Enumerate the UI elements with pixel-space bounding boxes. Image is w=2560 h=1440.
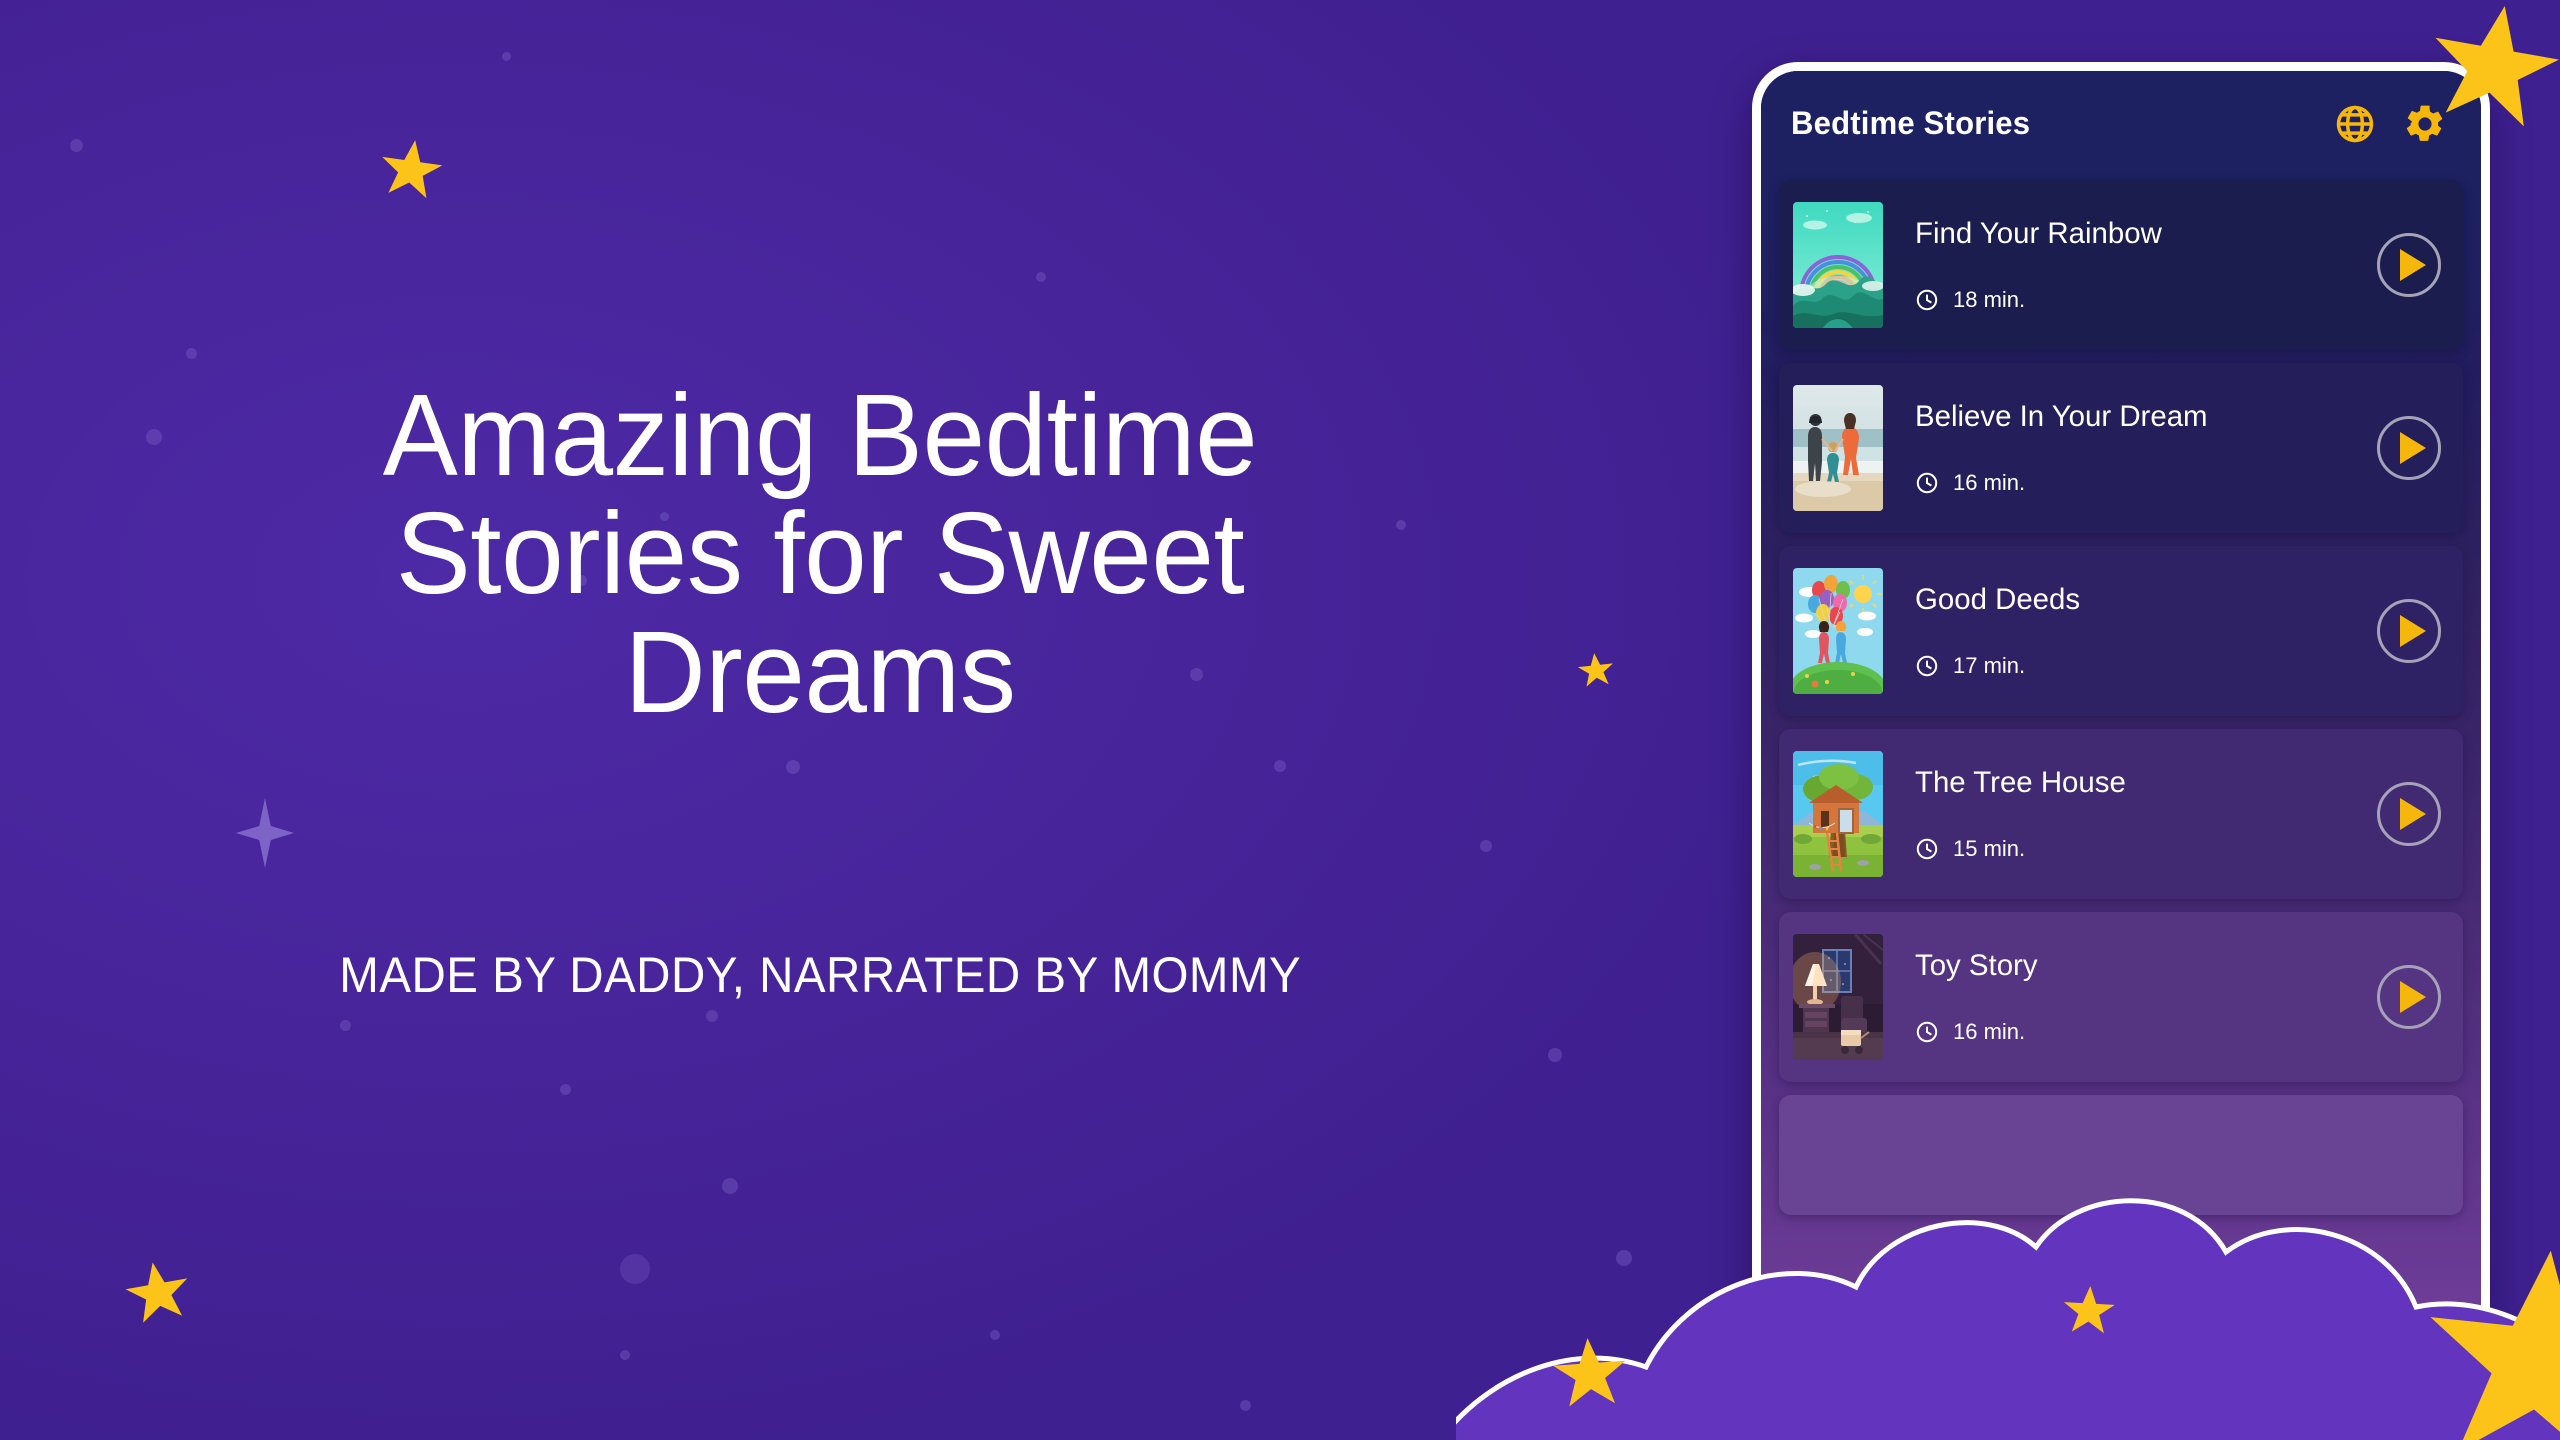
clock-icon (1915, 837, 1939, 861)
story-thumbnail-rainbow (1793, 202, 1883, 328)
story-duration: 15 min. (1915, 836, 2377, 862)
story-thumbnail-balloons (1793, 568, 1883, 694)
story-duration: 16 min. (1915, 470, 2377, 496)
play-icon[interactable] (2377, 599, 2441, 663)
app-bar: Bedtime Stories (1761, 71, 2481, 176)
gear-icon[interactable] (2403, 102, 2447, 146)
story-list-item[interactable]: Find Your Rainbow 18 min. (1779, 180, 2463, 350)
story-title: Believe In Your Dream (1915, 400, 2368, 434)
story-title: Good Deeds (1915, 583, 2368, 617)
story-duration: 17 min. (1915, 653, 2377, 679)
story-duration-text: 16 min. (1953, 470, 2025, 496)
story-list-item[interactable]: The Tree House 15 min. (1779, 729, 2463, 899)
story-duration: 16 min. (1915, 1019, 2377, 1045)
clock-icon (1915, 288, 1939, 312)
story-list[interactable]: Find Your Rainbow 18 min. (1761, 176, 2481, 1215)
play-icon[interactable] (2377, 782, 2441, 846)
story-meta: Believe In Your Dream 16 min. (1883, 400, 2377, 496)
hero-copy: Amazing Bedtime Stories for Sweet Dreams… (0, 0, 1640, 1440)
play-icon[interactable] (2377, 416, 2441, 480)
story-title: Find Your Rainbow (1915, 217, 2368, 251)
story-title: Toy Story (1915, 949, 2368, 983)
page-title: Amazing Bedtime Stories for Sweet Dreams (194, 376, 1445, 731)
play-icon[interactable] (2377, 233, 2441, 297)
story-thumbnail-bedroom (1793, 934, 1883, 1060)
story-duration-text: 18 min. (1953, 287, 2025, 313)
clock-icon (1915, 654, 1939, 678)
story-thumbnail-beach (1793, 385, 1883, 511)
app-title: Bedtime Stories (1791, 105, 2030, 142)
hero-subtitle: MADE BY DADDY, NARRATED BY MOMMY (339, 946, 1301, 1004)
story-list-item[interactable]: Good Deeds 17 min. (1779, 546, 2463, 716)
globe-icon[interactable] (2333, 102, 2377, 146)
clock-icon (1915, 1020, 1939, 1044)
app-screen: Bedtime Stories (1761, 71, 2481, 1440)
story-title: The Tree House (1915, 766, 2368, 800)
story-duration: 18 min. (1915, 287, 2377, 313)
story-list-item[interactable]: Believe In Your Dream 16 min. (1779, 363, 2463, 533)
phone-mockup: Bedtime Stories (1752, 62, 2490, 1440)
story-duration-text: 15 min. (1953, 836, 2025, 862)
story-meta: Find Your Rainbow 18 min. (1883, 217, 2377, 313)
story-list-item[interactable]: Toy Story 16 min. (1779, 912, 2463, 1082)
clock-icon (1915, 471, 1939, 495)
story-list-item[interactable] (1779, 1095, 2463, 1215)
story-meta: The Tree House 15 min. (1883, 766, 2377, 862)
play-icon[interactable] (2377, 965, 2441, 1029)
story-meta: Toy Story 16 min. (1883, 949, 2377, 1045)
story-duration-text: 16 min. (1953, 1019, 2025, 1045)
story-thumbnail-treehouse (1793, 751, 1883, 877)
story-meta: Good Deeds 17 min. (1883, 583, 2377, 679)
story-duration-text: 17 min. (1953, 653, 2025, 679)
